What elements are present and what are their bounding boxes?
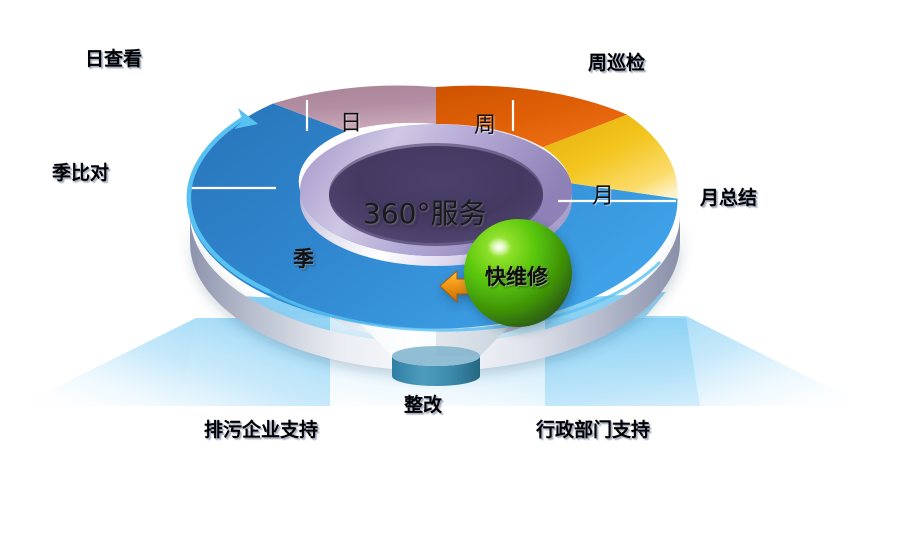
segment-label-week: 周 <box>474 107 496 139</box>
left-support-label: 排污企业支持 <box>204 415 318 442</box>
funnel-outlet-label: 整改 <box>404 390 442 417</box>
callout-week: 周巡检 <box>588 48 645 75</box>
segment-label-month: 月 <box>592 178 614 210</box>
right-support-label: 行政部门支持 <box>536 415 650 442</box>
segment-label-day: 日 <box>340 105 362 137</box>
callout-day: 日查看 <box>85 44 142 71</box>
diagram-canvas: 日查看 周巡检 月总结 季比对 日 周 月 季 360°服务 快维修 整改 排污… <box>0 0 924 539</box>
service-cycle-funnel-graphic <box>0 0 924 539</box>
callout-month: 月总结 <box>700 183 757 210</box>
segment-label-quarter: 季 <box>293 243 314 273</box>
callout-quarter: 季比对 <box>52 158 109 185</box>
center-title: 360°服务 <box>363 192 486 232</box>
sphere-label: 快维修 <box>485 261 548 291</box>
